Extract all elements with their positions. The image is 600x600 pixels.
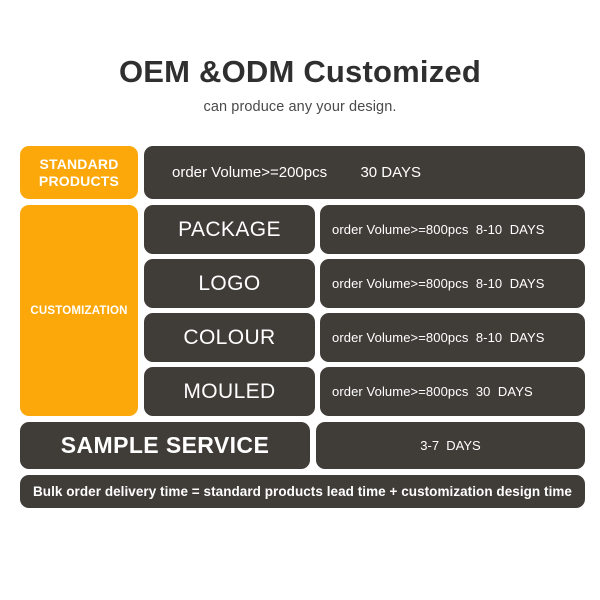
logo-name-text: LOGO xyxy=(198,272,260,296)
package-name: PACKAGE xyxy=(144,205,315,254)
table-row-sample-service: SAMPLE SERVICE 3-7 DAYS xyxy=(20,422,585,469)
mouled-detail: order Volume>=800pcs 30 DAYS xyxy=(320,367,585,416)
customization-label-wrap: CUSTOMIZATION xyxy=(20,205,138,416)
logo-detail-text: order Volume>=800pcs 8-10 DAYS xyxy=(332,276,545,291)
sample-service-lead-time: 3-7 DAYS xyxy=(316,422,585,469)
colour-name: COLOUR xyxy=(144,313,315,362)
table-row-standard-products: STANDARD PRODUCTS order Volume>=200pcs 3… xyxy=(20,146,585,199)
standard-products-detail-text: order Volume>=200pcs 30 DAYS xyxy=(172,164,421,181)
page-title: OEM &ODM Customized xyxy=(0,55,600,89)
table-row-note: Bulk order delivery time = standard prod… xyxy=(20,475,585,508)
standard-products-detail: order Volume>=200pcs 30 DAYS xyxy=(144,146,585,199)
standard-products-label-text: STANDARD PRODUCTS xyxy=(20,156,138,188)
table-row-package: PACKAGE order Volume>=800pcs 8-10 DAYS xyxy=(144,205,585,254)
table-row-customization: CUSTOMIZATION PACKAGE order Volume>=800p… xyxy=(20,205,585,416)
colour-name-text: COLOUR xyxy=(183,326,275,350)
mouled-detail-text: order Volume>=800pcs 30 DAYS xyxy=(332,384,533,399)
infographic-page: OEM &ODM Customized can produce any your… xyxy=(0,0,600,600)
customization-label: CUSTOMIZATION xyxy=(20,205,138,416)
colour-detail-text: order Volume>=800pcs 8-10 DAYS xyxy=(332,330,545,345)
standard-products-label: STANDARD PRODUCTS xyxy=(20,146,138,199)
sample-service-label-text: SAMPLE SERVICE xyxy=(61,432,269,459)
logo-detail: order Volume>=800pcs 8-10 DAYS xyxy=(320,259,585,308)
sample-service-lead-time-text: 3-7 DAYS xyxy=(420,438,480,453)
bulk-order-note: Bulk order delivery time = standard prod… xyxy=(20,475,585,508)
table-row-logo: LOGO order Volume>=800pcs 8-10 DAYS xyxy=(144,259,585,308)
table-row-mouled: MOULED order Volume>=800pcs 30 DAYS xyxy=(144,367,585,416)
sample-service-label: SAMPLE SERVICE xyxy=(20,422,310,469)
package-name-text: PACKAGE xyxy=(178,218,281,242)
page-subtitle: can produce any your design. xyxy=(0,99,600,115)
customization-label-text: CUSTOMIZATION xyxy=(30,305,127,317)
mouled-name-text: MOULED xyxy=(183,380,275,404)
package-detail: order Volume>=800pcs 8-10 DAYS xyxy=(320,205,585,254)
bulk-order-note-text: Bulk order delivery time = standard prod… xyxy=(33,484,572,499)
customization-rows: PACKAGE order Volume>=800pcs 8-10 DAYS L… xyxy=(144,205,585,416)
lead-time-table: STANDARD PRODUCTS order Volume>=200pcs 3… xyxy=(20,146,585,508)
logo-name: LOGO xyxy=(144,259,315,308)
table-row-colour: COLOUR order Volume>=800pcs 8-10 DAYS xyxy=(144,313,585,362)
mouled-name: MOULED xyxy=(144,367,315,416)
colour-detail: order Volume>=800pcs 8-10 DAYS xyxy=(320,313,585,362)
header: OEM &ODM Customized can produce any your… xyxy=(0,55,600,115)
package-detail-text: order Volume>=800pcs 8-10 DAYS xyxy=(332,222,545,237)
